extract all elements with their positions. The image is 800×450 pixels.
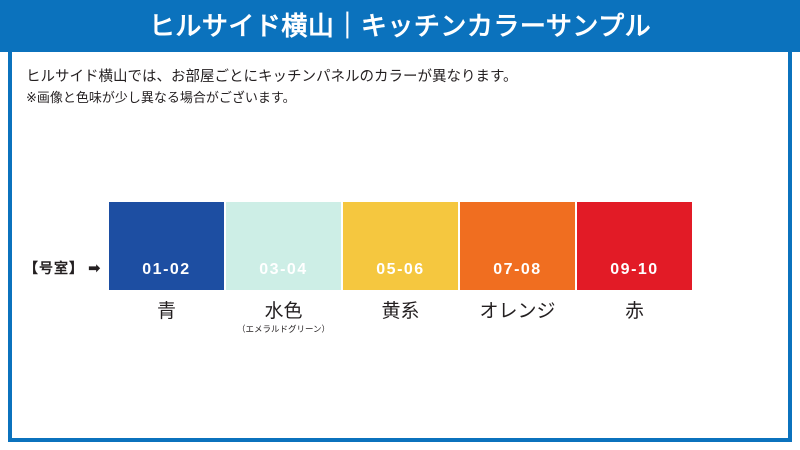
swatch-color-name: オレンジ <box>479 302 555 323</box>
swatch-room-number: 03-04 <box>259 262 307 278</box>
page-title: ヒルサイド横山｜キッチンカラーサンプル <box>149 13 651 39</box>
swatch-color-subname: （エメラルドグリーン） <box>237 325 330 334</box>
color-swatch-area: 【号室】 ➡ 01-02青03-04水色（エメラルドグリーン）05-06黄系07… <box>0 202 800 347</box>
color-swatch[interactable]: 01-02 <box>109 202 224 290</box>
swatch-column: 07-08オレンジ <box>460 202 575 334</box>
swatch-room-number: 09-10 <box>610 262 658 278</box>
color-swatch[interactable]: 09-10 <box>577 202 692 290</box>
swatch-row: 01-02青03-04水色（エメラルドグリーン）05-06黄系07-08オレンジ… <box>109 202 692 334</box>
swatch-room-number: 05-06 <box>376 262 424 278</box>
swatch-color-name: 黄系 <box>381 302 419 323</box>
swatch-column: 09-10赤 <box>577 202 692 334</box>
swatch-room-number: 07-08 <box>493 262 541 278</box>
arrow-right-icon: ➡ <box>88 261 101 276</box>
room-number-label-text: 【号室】 <box>24 258 84 278</box>
room-number-label: 【号室】 ➡ <box>24 258 101 278</box>
description-block: ヒルサイド横山では、お部屋ごとにキッチンパネルのカラーが異なります。 ※画像と色… <box>26 66 726 109</box>
color-swatch[interactable]: 03-04 <box>226 202 341 290</box>
swatch-room-number: 01-02 <box>142 262 190 278</box>
color-swatch[interactable]: 07-08 <box>460 202 575 290</box>
swatch-column: 05-06黄系 <box>343 202 458 334</box>
swatch-color-name: 水色 <box>264 302 302 323</box>
swatch-column: 03-04水色（エメラルドグリーン） <box>226 202 341 334</box>
color-swatch[interactable]: 05-06 <box>343 202 458 290</box>
swatch-column: 01-02青 <box>109 202 224 334</box>
description-note: ※画像と色味が少し異なる場合がございます。 <box>26 88 726 108</box>
description-line-1: ヒルサイド横山では、お部屋ごとにキッチンパネルのカラーが異なります。 <box>26 66 726 88</box>
swatch-color-name: 青 <box>157 302 176 323</box>
header-bar: ヒルサイド横山｜キッチンカラーサンプル <box>0 0 800 52</box>
swatch-color-name: 赤 <box>625 302 644 323</box>
